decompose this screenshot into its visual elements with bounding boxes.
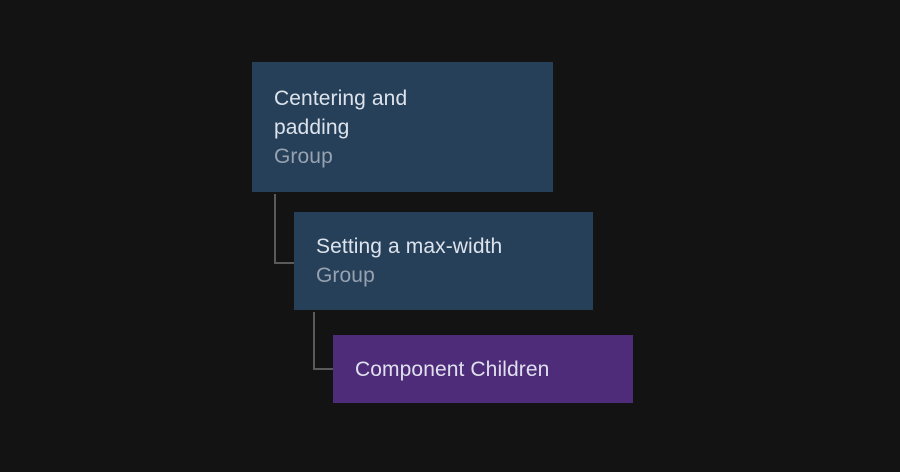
connector-horizontal-segment [274, 262, 294, 264]
tree-node-component-children[interactable]: Component Children [333, 335, 633, 403]
diagram-canvas: Centering and padding Group Setting a ma… [0, 0, 900, 472]
connector-elbow [274, 194, 294, 264]
tree-node-title: Setting a max-width [316, 232, 571, 261]
connector-vertical-segment [274, 194, 276, 264]
tree-node-setting-a-max-width[interactable]: Setting a max-width Group [294, 212, 593, 310]
tree-node-title: Component Children [355, 355, 611, 384]
tree-node-subtitle: Group [274, 142, 531, 171]
connector-horizontal-segment [313, 368, 333, 370]
tree-node-centering-and-padding[interactable]: Centering and padding Group [252, 62, 553, 192]
connector-vertical-segment [313, 312, 315, 370]
tree-node-title: Centering and padding [274, 84, 531, 142]
tree-node-subtitle: Group [316, 261, 571, 290]
connector-elbow [313, 312, 333, 370]
